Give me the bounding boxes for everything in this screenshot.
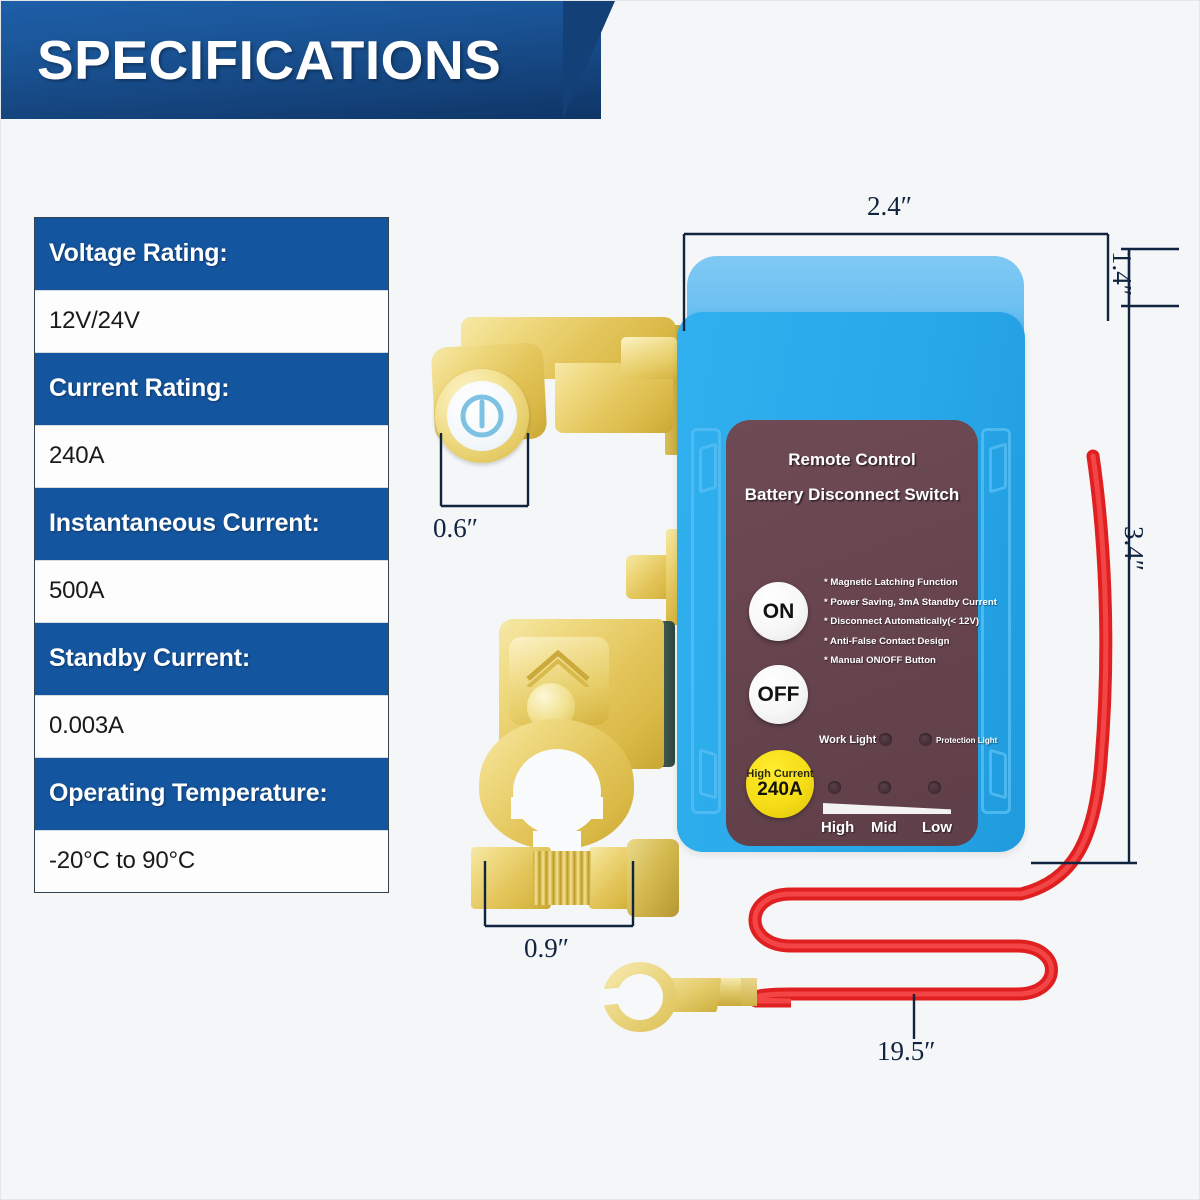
device-title-line-1: Remote Control — [726, 450, 978, 470]
tier-label-high: High — [821, 819, 854, 836]
terminal-tab — [621, 337, 677, 379]
battery-disconnect-device: Remote Control Battery Disconnect Switch… — [677, 256, 1029, 853]
spec-label-current-rating: Current Rating: — [35, 353, 388, 425]
list-item: * Power Saving, 3mA Standby Current — [824, 598, 974, 609]
bracket-slot — [699, 442, 717, 493]
table-row: Operating Temperature: -20°C to 90°C — [35, 758, 388, 892]
header-banner: SPECIFICATIONS — [1, 1, 601, 119]
indicator-panel: Work Light Protection Light High Mid Low — [821, 733, 971, 843]
badge-label: High Current — [746, 768, 813, 780]
dimension-label-clamp-width: 0.9″ — [524, 933, 569, 964]
dimension-label-depth: 1.4″ — [1106, 251, 1137, 296]
lug-barrel-end — [741, 978, 757, 1006]
mounting-bracket-left — [691, 428, 721, 814]
bracket-slot — [989, 748, 1007, 799]
tier-label-low: Low — [922, 819, 952, 836]
indicator-row-lights: Work Light Protection Light — [821, 733, 971, 755]
spec-value-standby-current: 0.003A — [35, 695, 388, 758]
power-icon — [456, 390, 508, 442]
table-row: Instantaneous Current: 500A — [35, 488, 388, 623]
bottom-battery-clamp — [461, 601, 711, 931]
top-battery-terminal — [425, 317, 695, 467]
high-current-badge: High Current 240A — [746, 750, 814, 818]
dimension-label-cable-length: 19.5″ — [877, 1036, 936, 1067]
spec-label-instantaneous-current: Instantaneous Current: — [35, 488, 388, 560]
protection-light-label: Protection Light — [936, 736, 997, 745]
list-item: * Manual ON/OFF Button — [824, 656, 974, 667]
clamp-ring-hole — [513, 749, 601, 835]
table-row: Voltage Rating: 12V/24V — [35, 218, 388, 353]
on-button[interactable]: ON — [749, 582, 808, 641]
clamp-notch-right — [583, 797, 603, 819]
work-light-label: Work Light — [819, 734, 876, 746]
list-item: * Disconnect Automatically(< 12V) — [824, 617, 974, 628]
work-light-led — [879, 733, 892, 746]
bracket-slot — [989, 442, 1007, 493]
dimension-label-width: 2.4″ — [867, 191, 912, 222]
clamp-notch-left — [511, 797, 531, 819]
spec-value-operating-temperature: -20°C to 90°C — [35, 830, 388, 892]
chevron-emboss-icon — [523, 647, 593, 687]
clamp-end-nut — [627, 839, 679, 917]
protection-light-led — [919, 733, 932, 746]
page-title: SPECIFICATIONS — [37, 28, 501, 92]
off-button[interactable]: OFF — [749, 665, 808, 724]
clamp-threaded-bolt — [533, 851, 591, 905]
indicator-row-tiers: High Mid Low — [821, 781, 971, 843]
specifications-page: SPECIFICATIONS Voltage Rating: 12V/24V C… — [0, 0, 1200, 1200]
mounting-bracket-right — [981, 428, 1011, 814]
spec-label-voltage-rating: Voltage Rating: — [35, 218, 388, 290]
low-tier-led — [928, 781, 941, 794]
tier-label-mid: Mid — [871, 819, 897, 836]
ring-terminal-lug — [603, 956, 793, 1038]
badge-value: 240A — [757, 780, 802, 801]
spec-value-voltage-rating: 12V/24V — [35, 290, 388, 353]
dimension-label-post-diameter: 0.6″ — [433, 513, 478, 544]
mid-tier-led — [878, 781, 891, 794]
tier-gradient-wedge — [823, 803, 951, 814]
dimension-label-height: 3.4″ — [1118, 526, 1149, 571]
specifications-table: Voltage Rating: 12V/24V Current Rating: … — [34, 217, 389, 893]
high-tier-led — [828, 781, 841, 794]
bracket-slot — [699, 748, 717, 799]
device-face-panel: Remote Control Battery Disconnect Switch… — [726, 420, 978, 846]
table-row: Current Rating: 240A — [35, 353, 388, 488]
banner-notch-shape — [563, 1, 615, 119]
spec-label-operating-temperature: Operating Temperature: — [35, 758, 388, 830]
device-body: Remote Control Battery Disconnect Switch… — [677, 312, 1025, 852]
spec-value-instantaneous-current: 500A — [35, 560, 388, 623]
spec-label-standby-current: Standby Current: — [35, 623, 388, 695]
table-row: Standby Current: 0.003A — [35, 623, 388, 758]
list-item: * Anti-False Contact Design — [824, 637, 974, 648]
device-title-line-2: Battery Disconnect Switch — [726, 485, 978, 505]
list-item: * Magnetic Latching Function — [824, 578, 974, 589]
spec-value-current-rating: 240A — [35, 425, 388, 488]
feature-list: * Magnetic Latching Function * Power Sav… — [824, 578, 974, 676]
